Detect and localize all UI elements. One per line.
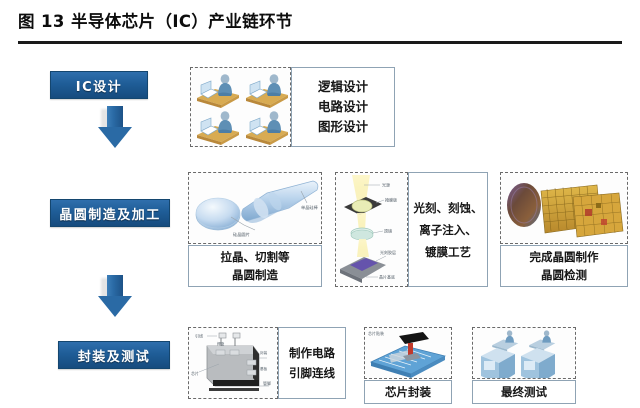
panel-line: 最终测试 [501, 382, 547, 402]
flow-arrow-2 [98, 275, 132, 317]
panel-line: 晶圆制造 [232, 266, 278, 284]
art-package-cross-section: 引线 焊盘 芯片 封装 基板 管脚 [188, 327, 278, 399]
panel-line: 引脚连线 [289, 363, 335, 383]
art-engineers-at-desks [190, 67, 291, 147]
flow-arrow-1-head [98, 127, 132, 148]
flow-arrow-1-shaft [107, 106, 123, 128]
stage-label-ic-design[interactable]: IC设计 [50, 71, 148, 99]
art-wafer-and-dies [500, 172, 628, 244]
svg-text:掩膜版: 掩膜版 [385, 197, 397, 203]
svg-text:光刻胶层: 光刻胶层 [380, 249, 396, 255]
panel-line: 电路设计 [318, 97, 368, 117]
stage-label-wafer-fab[interactable]: 晶圆制造及加工 [50, 199, 170, 227]
stage-label-package-test-text: 封装及测试 [78, 346, 151, 365]
engineers-icon [191, 68, 291, 147]
flow-arrow-2-shaft [107, 275, 123, 297]
stage-label-package-test[interactable]: 封装及测试 [58, 341, 170, 369]
panel-final-test-text: 最终测试 [472, 380, 576, 404]
page-title: 图 13 半导体芯片（IC）产业链环节 [18, 10, 622, 34]
svg-text:焊盘: 焊盘 [217, 341, 225, 346]
lithography-icon: 光源 掩膜版 透镜 光刻胶层 晶片基底 [336, 173, 408, 287]
svg-text:光源: 光源 [382, 182, 390, 188]
svg-text:硅晶圆片: 硅晶圆片 [233, 231, 250, 238]
stage-label-wafer-fab-text: 晶圆制造及加工 [59, 204, 161, 223]
panel-line: 逻辑设计 [318, 77, 368, 97]
panel-circuit-bonding-text: 制作电路 引脚连线 [278, 327, 346, 399]
svg-text:引线: 引线 [195, 333, 203, 339]
panel-line: 图形设计 [318, 117, 368, 137]
art-test-stations [472, 327, 576, 379]
svg-text:芯片贴装: 芯片贴装 [368, 330, 384, 336]
panel-line: 制作电路 [289, 343, 335, 363]
art-lithography-optics: 光源 掩膜版 透镜 光刻胶层 晶片基底 [335, 172, 408, 287]
die-attach-icon: 芯片贴装 [365, 328, 452, 379]
panel-line: 离子注入、 [419, 219, 477, 241]
panel-line: 完成晶圆制作 [530, 248, 599, 266]
panel-line: 光刻、刻蚀、 [414, 197, 483, 219]
svg-text:封装: 封装 [260, 350, 268, 355]
panel-finished-wafer-text: 完成晶圆制作 晶圆检测 [500, 245, 628, 287]
svg-text:芯片: 芯片 [191, 370, 199, 376]
panel-line: 芯片封装 [385, 382, 431, 402]
svg-text:管脚: 管脚 [263, 380, 271, 386]
flow-arrow-2-head [98, 296, 132, 317]
svg-text:基板: 基板 [260, 366, 268, 371]
package-cross-section-icon: 引线 焊盘 芯片 封装 基板 管脚 [189, 328, 278, 399]
panel-crystal-pulling-text: 拉晶、切割等 晶圆制造 [188, 245, 322, 287]
silicon-ingot-icon: 硅晶圆片 单晶硅棒 [189, 173, 322, 244]
panel-line: 拉晶、切割等 [221, 248, 290, 266]
panel-photolithography-text: 光刻、刻蚀、 离子注入、 镀膜工艺 [408, 172, 488, 287]
svg-text:晶片基底: 晶片基底 [379, 274, 395, 280]
test-stations-icon [473, 328, 576, 379]
title-divider [18, 41, 622, 44]
panel-chip-packaging-text: 芯片封装 [364, 380, 452, 404]
panel-line: 晶圆检测 [541, 266, 587, 284]
panel-ic-design-text: 逻辑设计 电路设计 图形设计 [291, 67, 395, 147]
art-die-on-leadframe: 芯片贴装 [364, 327, 452, 379]
art-ingot-and-wafer: 硅晶圆片 单晶硅棒 [188, 172, 322, 244]
figure-canvas: 图 13 半导体芯片（IC）产业链环节 IC设计 [0, 0, 640, 408]
svg-text:单晶硅棒: 单晶硅棒 [301, 204, 319, 211]
stage-label-ic-design-text: IC设计 [76, 76, 122, 95]
finished-wafer-icon [501, 173, 628, 244]
figure-title-block: 图 13 半导体芯片（IC）产业链环节 [18, 10, 622, 34]
svg-text:透镜: 透镜 [384, 228, 392, 234]
panel-line: 镀膜工艺 [425, 241, 471, 263]
flow-arrow-1 [98, 106, 132, 148]
